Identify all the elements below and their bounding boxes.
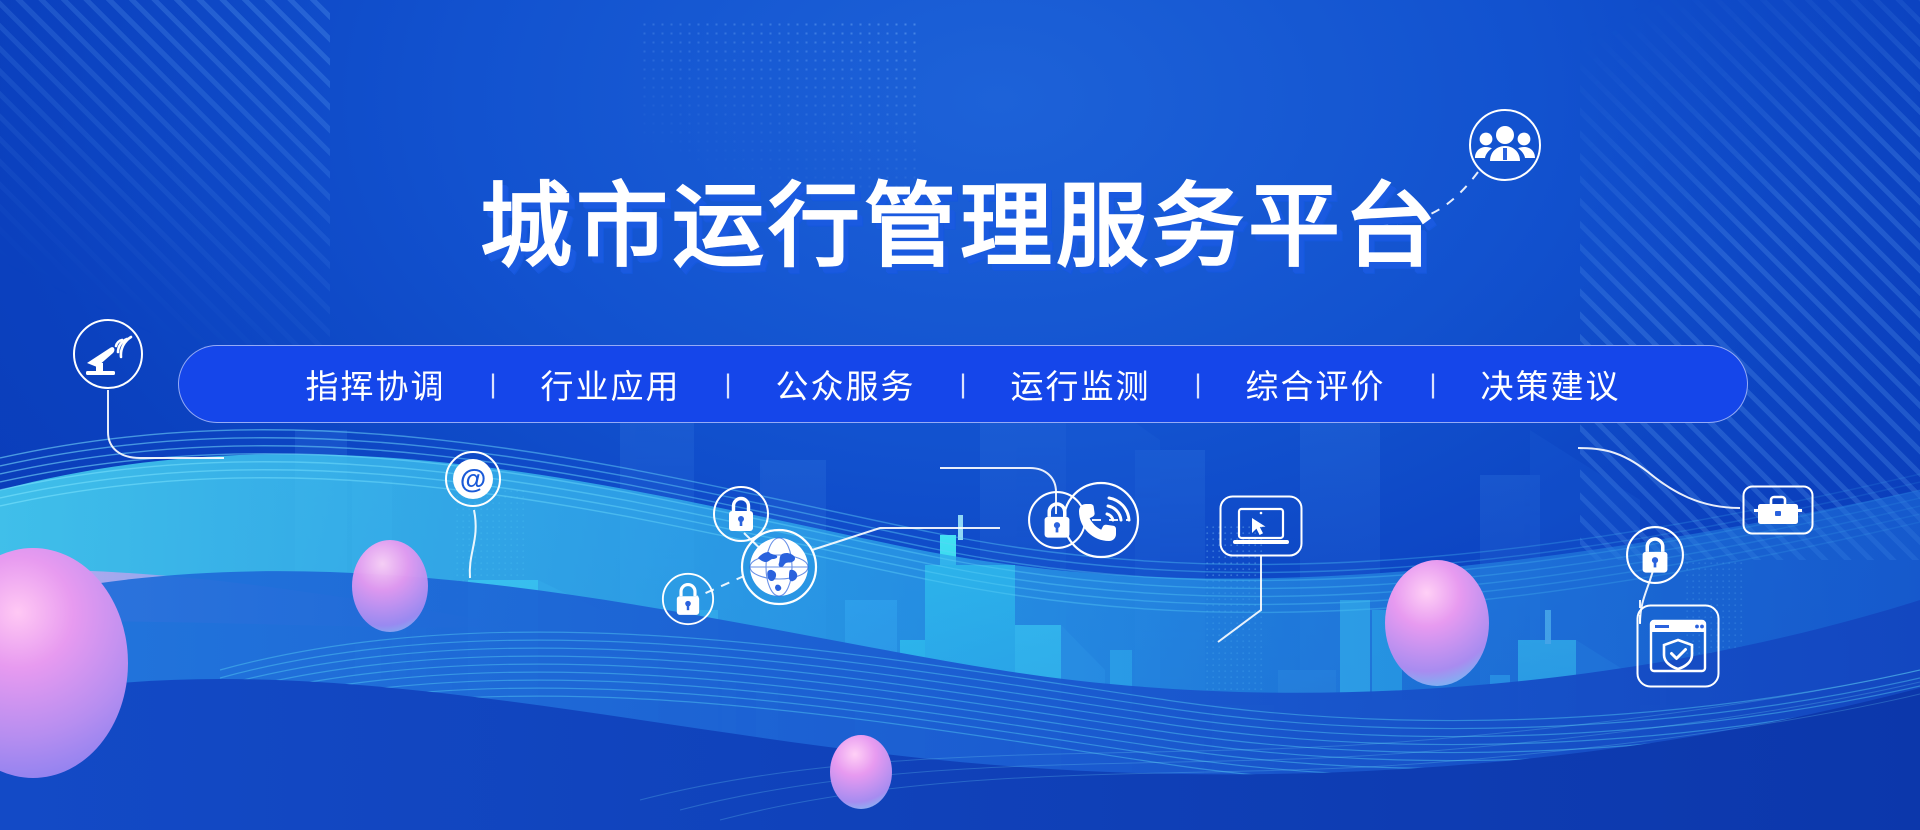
gradient-sphere-right [1385, 560, 1489, 686]
nav-separator: | [724, 371, 731, 398]
svg-text:@: @ [460, 464, 486, 494]
city-platform-banner: @ [0, 0, 1920, 830]
lock-icon-2[interactable] [661, 572, 715, 626]
nav-item-command-coordination[interactable]: 指挥协调 [261, 360, 489, 408]
browser-shield-icon[interactable] [1636, 604, 1720, 688]
nav-item-operation-monitoring[interactable]: 运行监测 [967, 360, 1195, 408]
briefcase-icon[interactable] [1742, 485, 1814, 535]
gradient-sphere-mid [352, 540, 428, 632]
globe-icon[interactable] [740, 528, 818, 606]
satellite-dish-icon[interactable] [72, 318, 144, 390]
primary-navigation-bar: 指挥协调|行业应用|公众服务|运行监测|综合评价|决策建议 [178, 345, 1748, 423]
page-title: 城市运行管理服务平台 [0, 152, 1920, 285]
wave-decoration [0, 370, 1920, 830]
nav-separator: | [959, 371, 966, 398]
nav-separator: | [489, 371, 496, 398]
gradient-sphere-small [830, 735, 892, 809]
nav-item-decision-suggestion[interactable]: 决策建议 [1437, 360, 1665, 408]
nav-item-comprehensive-evaluation[interactable]: 综合评价 [1202, 360, 1430, 408]
at-sign-icon[interactable]: @ [444, 450, 502, 508]
nav-separator: | [1430, 371, 1437, 398]
laptop-cursor-icon[interactable] [1219, 495, 1303, 557]
nav-item-public-service[interactable]: 公众服务 [731, 360, 959, 408]
nav-item-industry-application[interactable]: 行业应用 [496, 360, 724, 408]
phone-call-icon[interactable] [1062, 481, 1140, 559]
nav-separator: | [1195, 371, 1202, 398]
lock-icon-4[interactable] [1625, 525, 1685, 585]
